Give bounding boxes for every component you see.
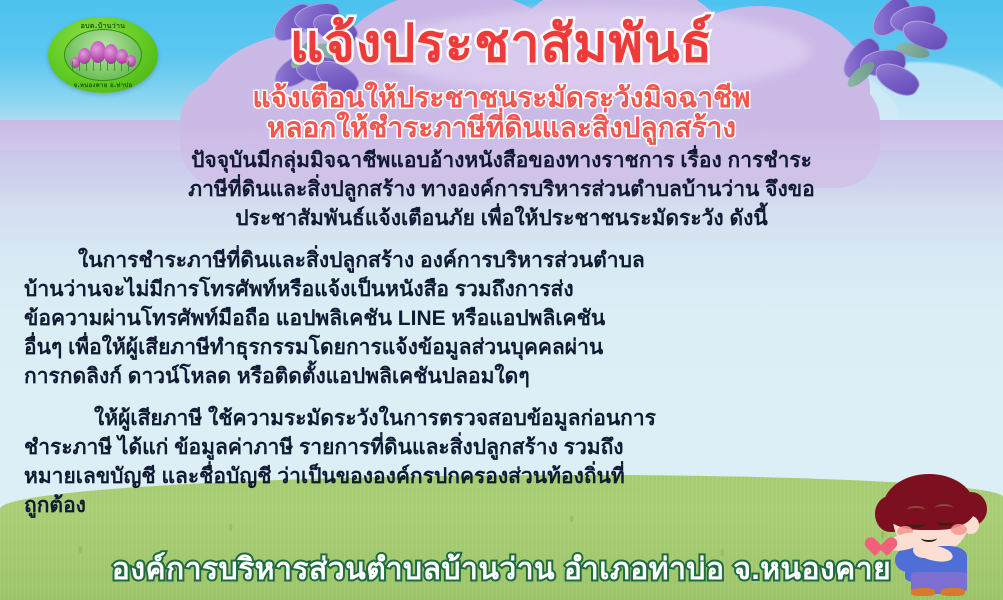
paragraph-2-line: อื่นๆ เพื่อให้ผู้เสียภาษีทำธุรกรรมโดยการ… [24,333,979,362]
paragraph-2-line: ข้อความผ่านโทรศัพท์มือถือ แอปพลิเคชัน LI… [24,304,979,333]
poster-subtitle-line2: หลอกให้ชำระภาษีที่ดินและสิ่งปลูกสร้าง [0,112,1003,143]
paragraph-3-line: ชำระภาษี ได้แก่ ข้อมูลค่าภาษี รายการที่ด… [24,433,979,462]
paragraph-3-line: หมายเลขบัญชี และชื่อบัญชี ว่าเป็นขององค์… [24,462,979,491]
poster-title: แจ้งประชาสัมพันธ์ [0,18,1003,70]
paragraph-1-line: ประชาสัมพันธ์แจ้งเตือนภัย เพื่อให้ประชาช… [24,204,979,233]
paragraph-1: ปัจจุบันมีกลุ่มมิจฉาชีพแอบอ้างหนังสือของ… [24,146,979,233]
paragraph-2-line: การกดลิงก์ ดาวน์โหลด หรือติดตั้งแอปพลิเค… [24,362,979,391]
paragraph-1-line: ภาษีที่ดินและสิ่งปลูกสร้าง ทางองค์การบริ… [24,175,979,204]
paragraph-1-line: ปัจจุบันมีกลุ่มมิจฉาชีพแอบอ้างหนังสือของ… [24,146,979,175]
paragraph-2-line: ในการชำระภาษีที่ดินและสิ่งปลูกสร้าง องค์… [24,246,979,275]
paragraph-3: ให้ผู้เสียภาษี ใช้ความระมัดระวังในการตรว… [24,404,979,520]
paragraph-2: ในการชำระภาษีที่ดินและสิ่งปลูกสร้าง องค์… [24,246,979,391]
announcement-poster: อบต.บ้านว่าน จ.หนองคาย อ.ท่าบ่อ แจ้งประช… [0,0,1003,600]
paragraph-3-line: ให้ผู้เสียภาษี ใช้ความระมัดระวังในการตรว… [24,404,979,433]
paragraph-2-line: บ้านว่านจะไม่มีการโทรศัพท์หรือแจ้งเป็นหน… [24,275,979,304]
organization-footer: องค์การบริหารส่วนตำบลบ้านว่าน อำเภอท่าบ่… [0,553,1003,586]
paragraph-3-line: ถูกต้อง [24,491,979,520]
poster-subtitle-line1: แจ้งเตือนให้ประชาชนระมัดระวังมิจฉาชีพ [0,82,1003,113]
announcement-body: ปัจจุบันมีกลุ่มมิจฉาชีพแอบอ้างหนังสือของ… [24,146,979,533]
